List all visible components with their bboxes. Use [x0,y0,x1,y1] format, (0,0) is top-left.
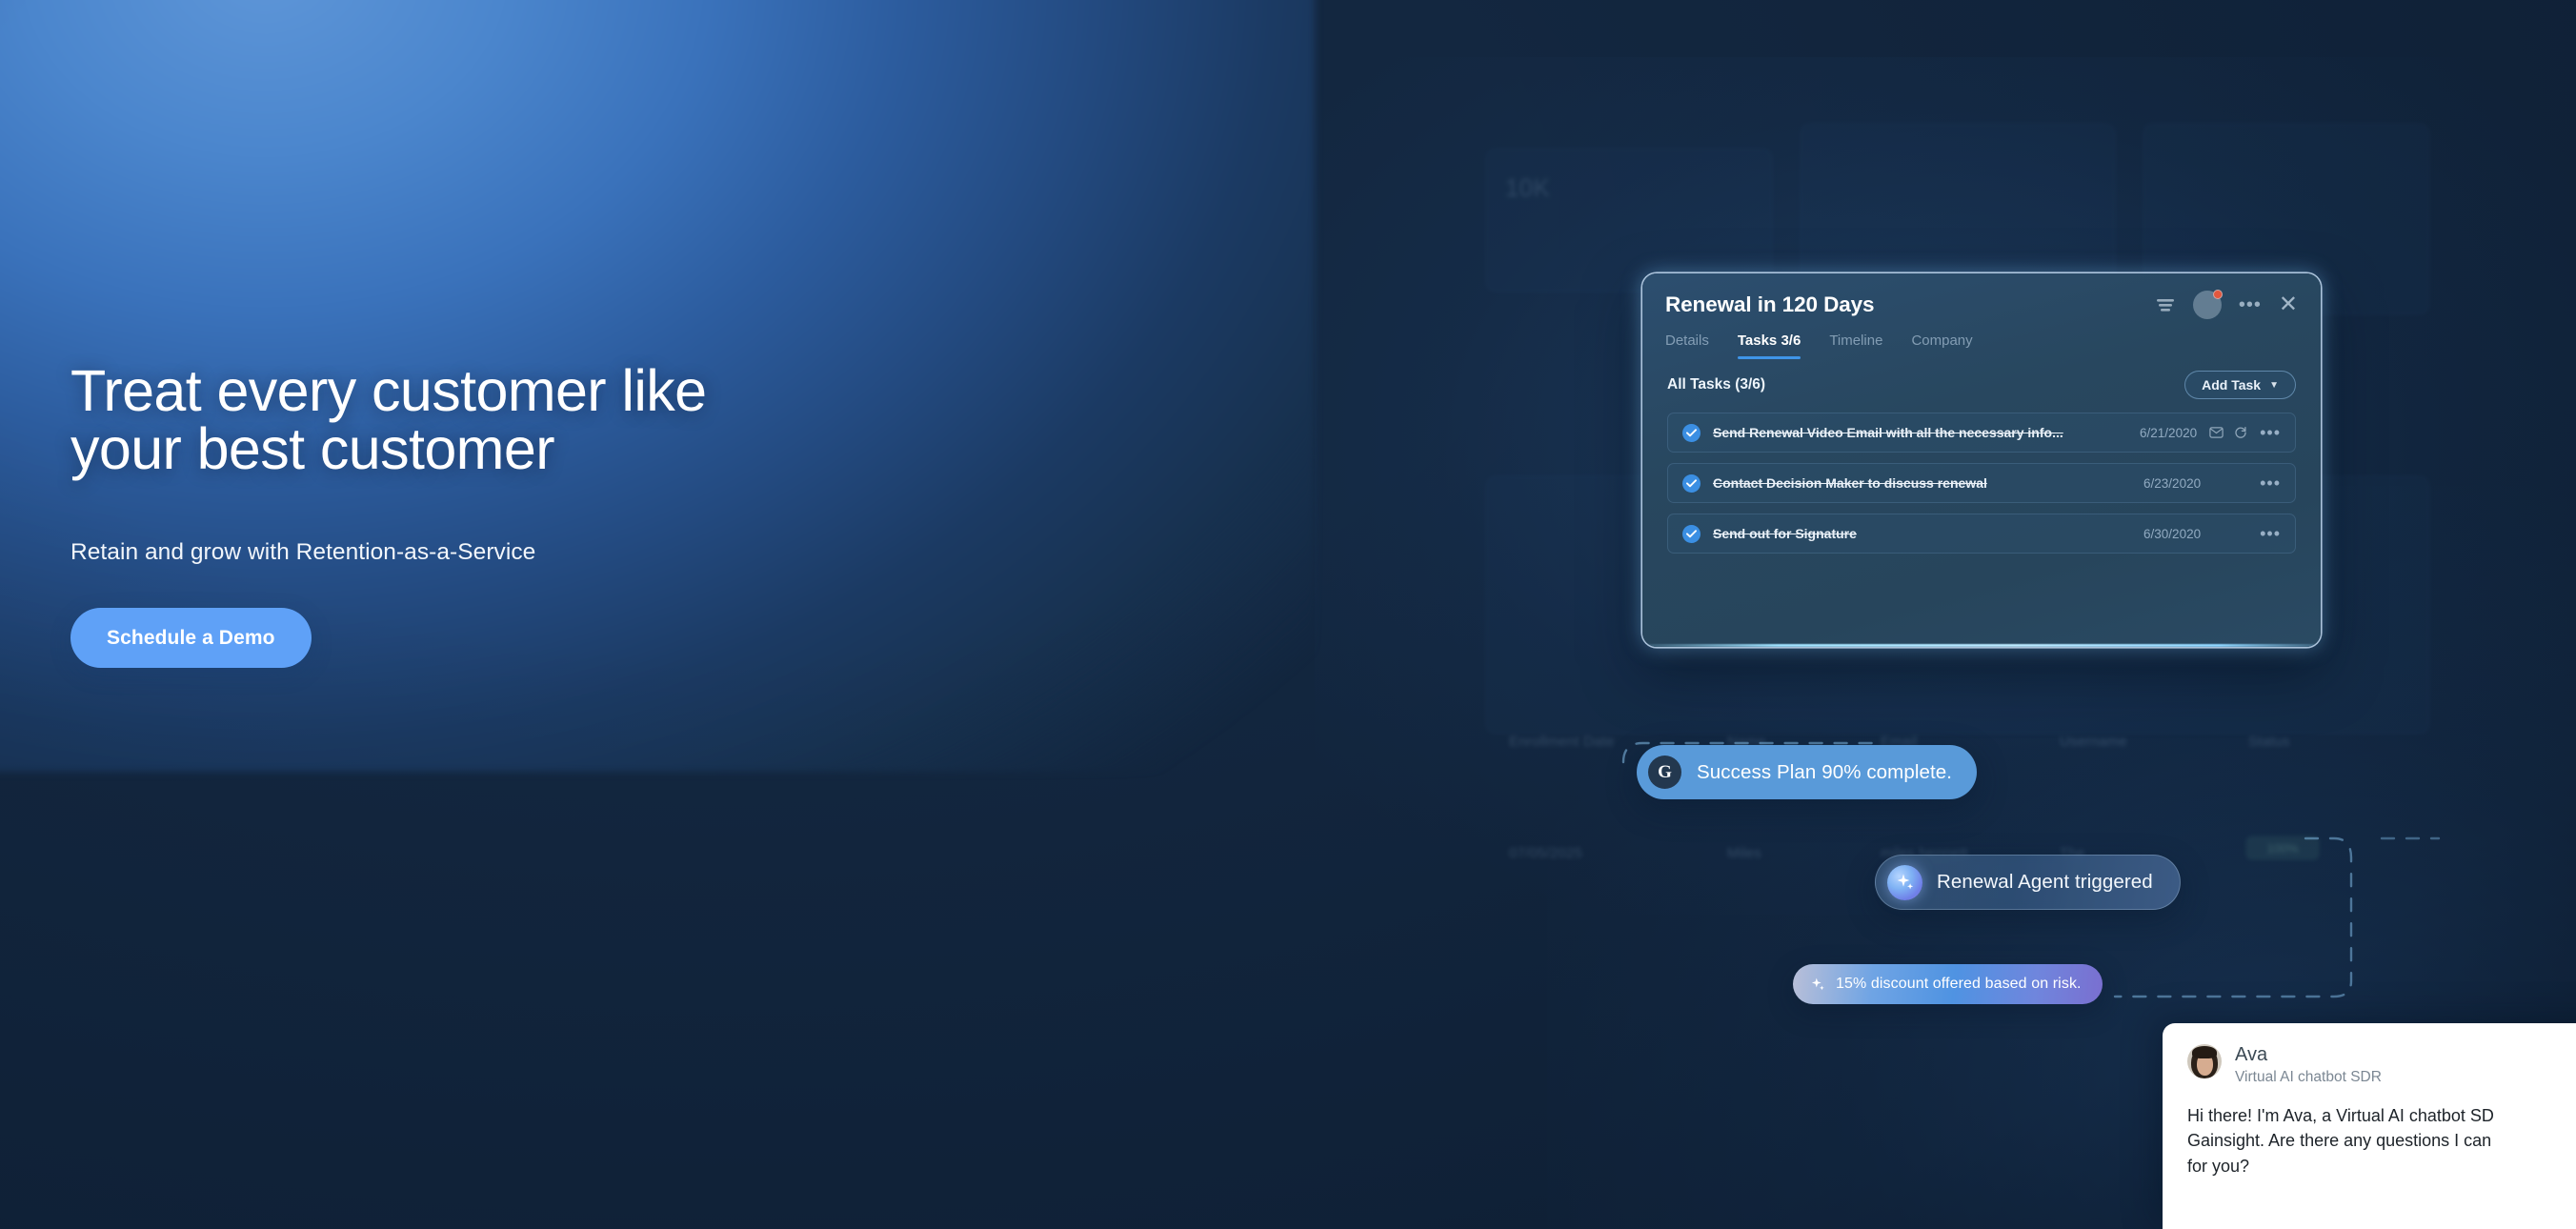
chat-message-line-3: for you? [2187,1154,2576,1179]
avatar [2187,1044,2222,1078]
task-overflow-menu-icon[interactable]: ••• [2260,428,2281,437]
page-title: Treat every customer like your best cust… [70,362,1195,478]
chat-message-line-2: Gainsight. Are there any questions I can [2187,1128,2576,1153]
renewal-agent-text: Renewal Agent triggered [1937,871,2153,894]
chat-widget[interactable]: Ava Virtual AI chatbot SDR Hi there! I'm… [2163,1023,2576,1229]
card-header-icons: ••• ✕ [2155,291,2298,319]
user-avatar[interactable] [2193,291,2222,319]
add-task-label: Add Task [2202,377,2261,393]
tab-timeline[interactable]: Timeline [1829,332,1882,359]
card-header: Renewal in 120 Days ••• ✕ [1642,273,2321,319]
chat-message-line-1: Hi there! I'm Ava, a Virtual AI chatbot … [2187,1103,2576,1128]
chat-header: Ava Virtual AI chatbot SDR [2187,1044,2576,1086]
tab-company[interactable]: Company [1911,332,1972,359]
close-icon[interactable]: ✕ [2279,296,2298,313]
status-badge-renewal-agent[interactable]: Renewal Agent triggered [1875,855,2181,910]
chat-agent-name: Ava [2235,1044,2382,1067]
check-icon[interactable] [1682,474,1701,493]
task-date: 6/30/2020 [2143,527,2201,541]
task-name: Contact Decision Maker to discuss renewa… [1713,475,1987,491]
bg-metric: 10K [1505,173,1550,203]
success-plan-text: Success Plan 90% complete. [1697,761,1952,784]
tab-details[interactable]: Details [1665,332,1709,359]
sparkle-icon [1810,977,1826,993]
discount-text: 15% discount offered based on risk. [1836,976,2082,993]
table-row[interactable]: Send out for Signature 6/30/2020 ••• [1667,514,2296,554]
status-badge-discount[interactable]: 15% discount offered based on risk. [1793,964,2103,1004]
hero-subhead: Retain and grow with Retention-as-a-Serv… [70,539,1195,566]
renewal-card[interactable]: Renewal in 120 Days ••• ✕ Details Tasks … [1642,273,2321,647]
notification-dot [2213,290,2223,299]
chat-agent-role: Virtual AI chatbot SDR [2235,1069,2382,1086]
chat-message: Hi there! I'm Ava, a Virtual AI chatbot … [2187,1103,2576,1179]
sparkle-icon [1887,865,1922,900]
avatar-fringe [2192,1046,2217,1058]
task-date: 6/23/2020 [2143,476,2201,491]
task-icons [2209,426,2247,439]
task-list: Send Renewal Video Email with all the ne… [1642,399,2321,554]
refresh-icon[interactable] [2234,426,2247,439]
status-badge-success-plan[interactable]: G Success Plan 90% complete. [1637,745,1977,799]
card-title: Renewal in 120 Days [1665,292,1874,317]
gainsight-logo-icon: G [1648,756,1681,789]
filter-lines-icon[interactable] [2155,297,2176,312]
task-overflow-menu-icon[interactable]: ••• [2260,478,2281,488]
check-icon[interactable] [1682,424,1701,442]
envelope-icon[interactable] [2209,427,2224,438]
task-overflow-menu-icon[interactable]: ••• [2260,529,2281,538]
task-name: Send Renewal Video Email with all the ne… [1713,425,2063,440]
task-date: 6/21/2020 [2140,426,2197,440]
overflow-menu-icon[interactable]: ••• [2239,299,2262,311]
check-icon[interactable] [1682,525,1701,543]
all-tasks-label: All Tasks (3/6) [1667,376,1765,393]
chevron-down-icon: ▼ [2269,380,2279,391]
card-tabs: Details Tasks 3/6 Timeline Company [1642,319,2321,359]
task-name: Send out for Signature [1713,526,1857,541]
add-task-button[interactable]: Add Task ▼ [2184,371,2296,399]
table-row[interactable]: Contact Decision Maker to discuss renewa… [1667,463,2296,503]
hero-copy-block: Treat every customer like your best cust… [70,362,1195,668]
tasks-subbar: All Tasks (3/6) Add Task ▼ [1642,359,2321,399]
schedule-demo-button[interactable]: Schedule a Demo [70,608,312,668]
table-row[interactable]: Send Renewal Video Email with all the ne… [1667,413,2296,453]
tab-tasks[interactable]: Tasks 3/6 [1738,332,1801,359]
chat-identity: Ava Virtual AI chatbot SDR [2235,1044,2382,1086]
